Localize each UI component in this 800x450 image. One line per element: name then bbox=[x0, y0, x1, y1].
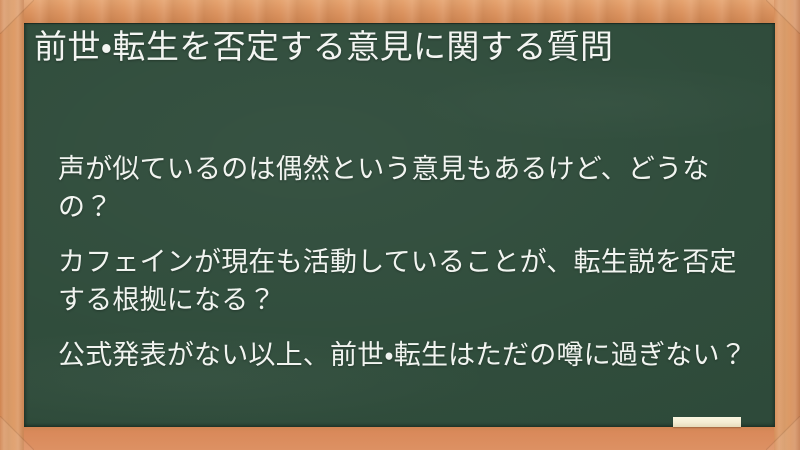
chalkboard-surface: 前世・転生を否定する意見に関する質問 声が似ているのは偶然という意見もあるけど、… bbox=[24, 23, 775, 427]
chalk-stick-icon bbox=[673, 417, 741, 427]
list-item: 公式発表がない以上、前世・転生はただの噂に過ぎない？ bbox=[58, 337, 748, 375]
question-list: 声が似ているのは偶然という意見もあるけど、どうなの？ カフェインが現在も活動して… bbox=[58, 151, 748, 375]
list-item: 声が似ているのは偶然という意見もあるけど、どうなの？ bbox=[58, 151, 748, 226]
list-item: カフェインが現在も活動していることが、転生説を否定する根拠になる？ bbox=[58, 244, 748, 319]
frame-rail-top bbox=[0, 0, 800, 24]
slide-title: 前世・転生を否定する意見に関する質問 bbox=[34, 25, 734, 69]
chalkboard-slide: 前世・転生を否定する意見に関する質問 声が似ているのは偶然という意見もあるけど、… bbox=[0, 0, 800, 450]
frame-rail-left bbox=[0, 0, 24, 450]
frame-rail-right bbox=[774, 0, 800, 450]
frame-rail-bottom bbox=[0, 426, 800, 450]
